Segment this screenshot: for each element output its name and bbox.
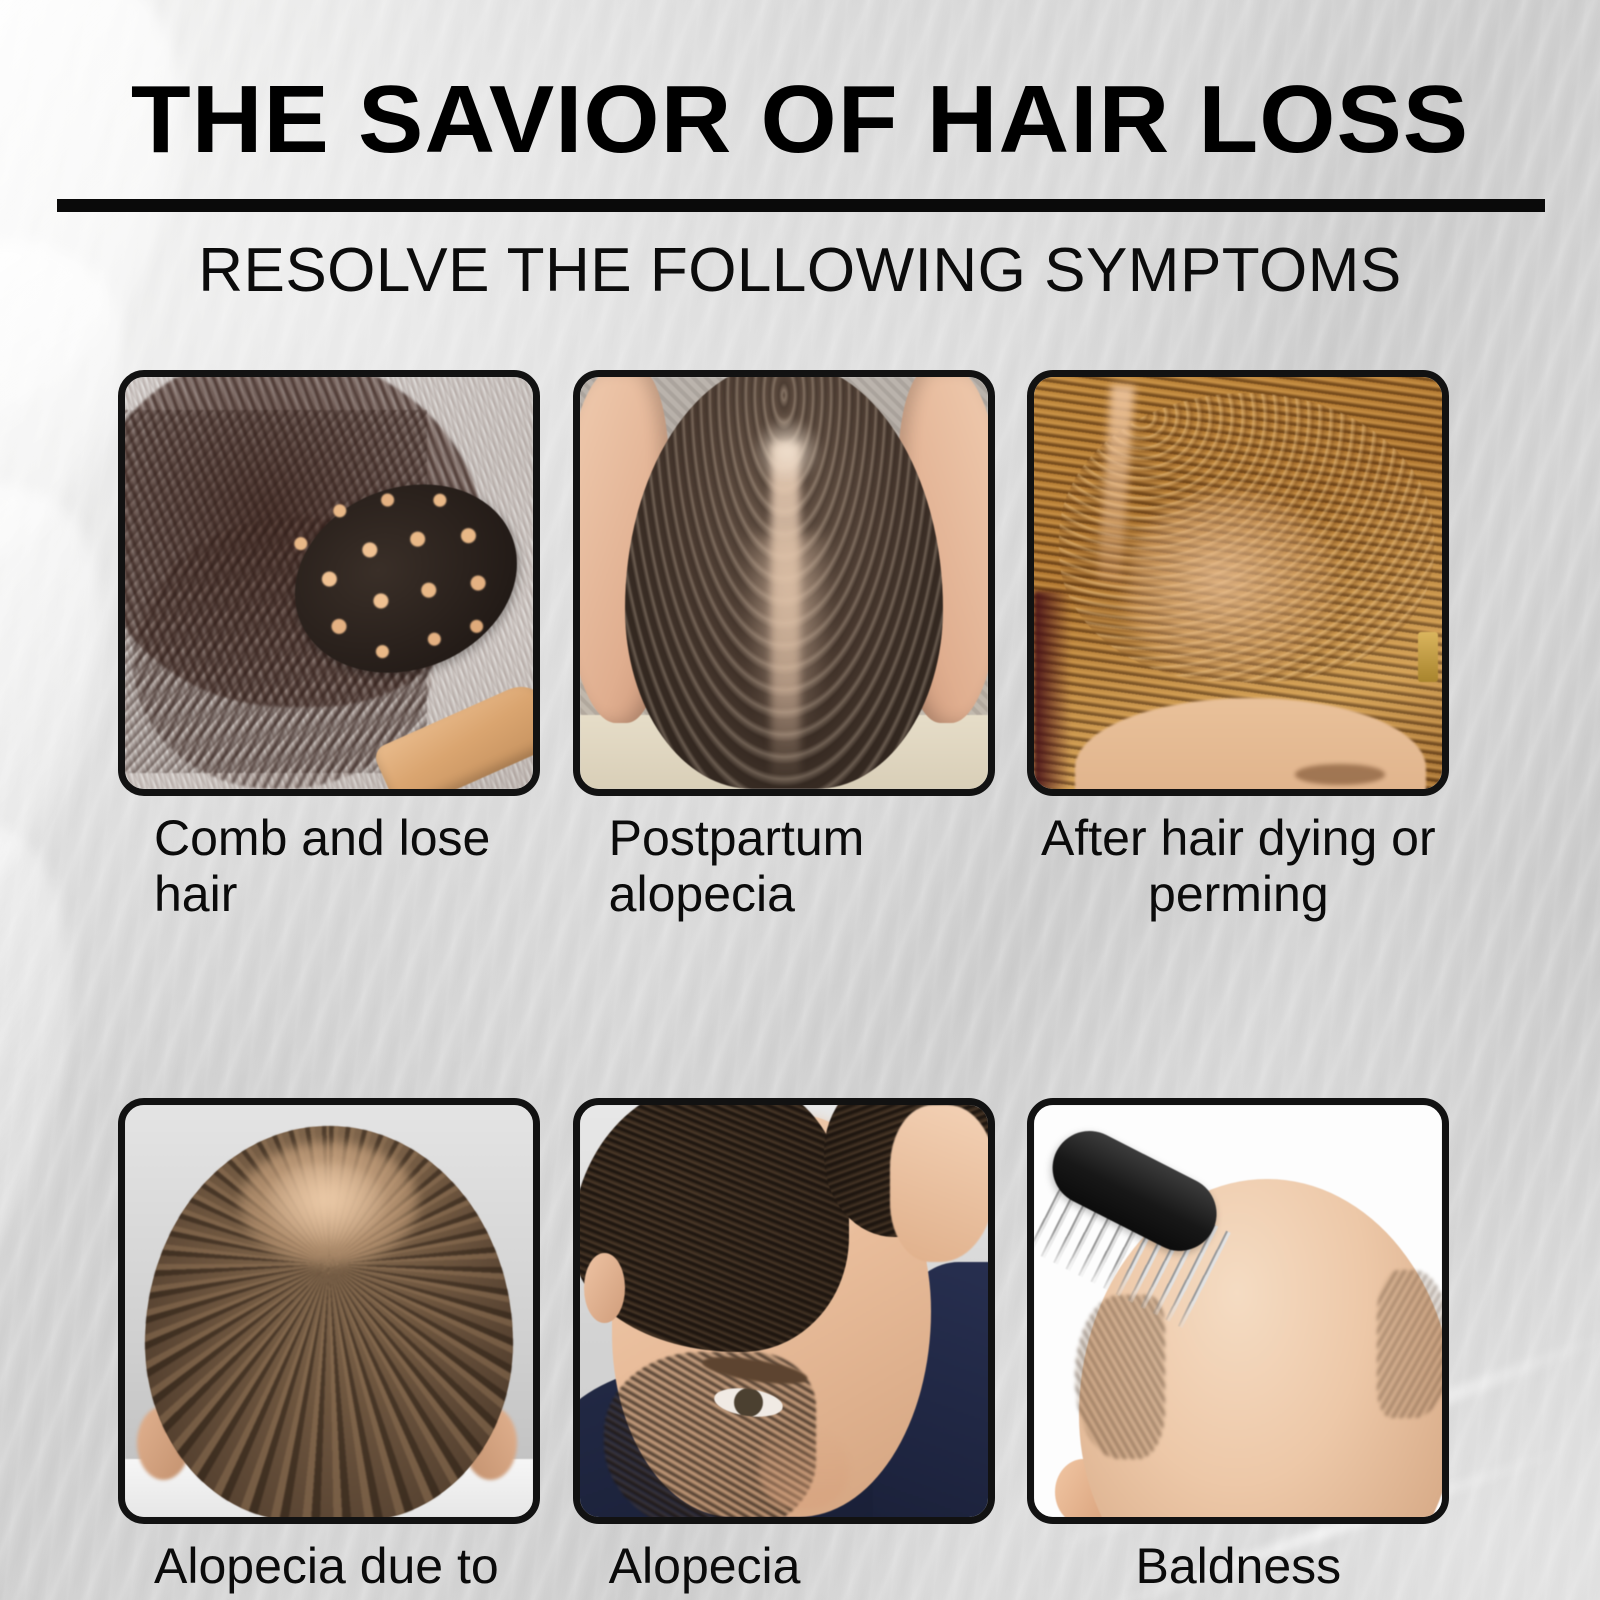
symptom-card-postpartum-alopecia[interactable]: Postpartum alopecia <box>573 370 1028 922</box>
poster-canvas: THE SAVIOR OF HAIR LOSS RESOLVE THE FOLL… <box>0 0 1600 1600</box>
symptom-row: Alopecia due to mental pressure <box>118 1098 1482 1600</box>
symptom-card-comb-and-lose-hair[interactable]: Comb and lose hair <box>118 370 573 922</box>
symptom-image-baldness <box>1027 1098 1449 1524</box>
symptom-image-postpartum-alopecia <box>573 370 995 796</box>
page-title: THE SAVIOR OF HAIR LOSS <box>0 72 1600 168</box>
symptom-caption: Postpartum alopecia <box>573 810 993 922</box>
symptom-image-comb-and-lose-hair <box>118 370 540 796</box>
symptom-caption: Alopecia seborrheica <box>573 1538 993 1600</box>
symptom-image-alopecia-due-to-mental-pressure <box>118 1098 540 1524</box>
symptom-image-alopecia-seborrheica <box>573 1098 995 1524</box>
symptom-image-after-hair-dying-or-perming <box>1027 370 1449 796</box>
symptom-card-alopecia-due-to-mental-pressure[interactable]: Alopecia due to mental pressure <box>118 1098 573 1600</box>
page-subtitle: RESOLVE THE FOLLOWING SYMPTOMS <box>0 240 1600 302</box>
symptom-caption: Baldness <box>1027 1538 1449 1594</box>
symptom-caption: After hair dying or perming <box>1027 810 1449 922</box>
symptom-row: Comb and lose hair <box>118 370 1482 922</box>
title-underline <box>57 199 1545 212</box>
symptom-card-alopecia-seborrheica[interactable]: Alopecia seborrheica <box>573 1098 1028 1600</box>
symptom-grid: Comb and lose hair <box>118 370 1482 1600</box>
symptom-card-after-hair-dying-or-perming[interactable]: After hair dying or perming <box>1027 370 1482 922</box>
symptom-caption: Alopecia due to mental pressure <box>118 1538 538 1600</box>
symptom-caption: Comb and lose hair <box>118 810 538 922</box>
symptom-card-baldness[interactable]: Baldness <box>1027 1098 1482 1600</box>
